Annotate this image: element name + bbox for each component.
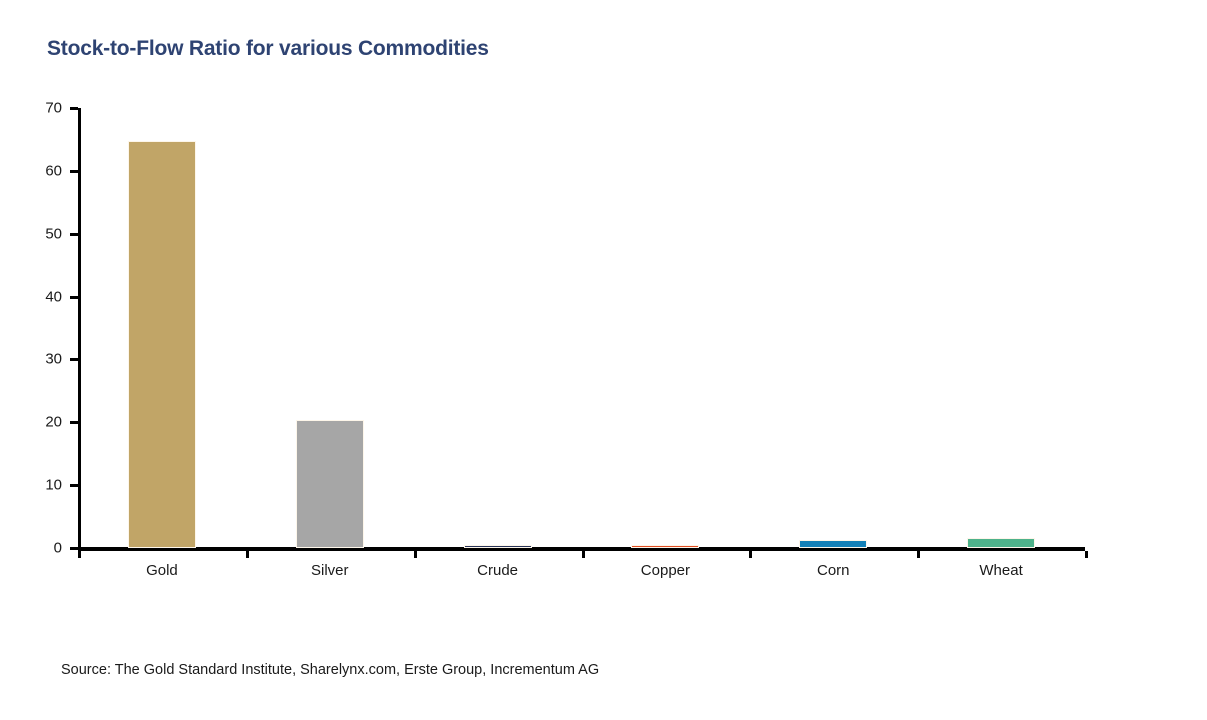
y-tick-mark	[70, 421, 78, 424]
bar-gold	[128, 141, 196, 548]
x-tick-mark	[78, 551, 81, 558]
x-tick-label-copper: Copper	[641, 562, 690, 579]
chart-container: Stock-to-Flow Ratio for various Commodit…	[0, 0, 1207, 720]
y-tick-label: 50	[0, 225, 62, 242]
y-tick-mark	[70, 170, 78, 173]
x-tick-mark	[1085, 551, 1088, 558]
y-tick-mark	[70, 484, 78, 487]
source-note: Source: The Gold Standard Institute, Sha…	[61, 662, 599, 678]
y-tick-label: 60	[0, 162, 62, 179]
y-tick-label: 70	[0, 100, 62, 117]
x-tick-label-gold: Gold	[146, 562, 178, 579]
y-tick-label: 0	[0, 540, 62, 557]
y-tick-label: 20	[0, 414, 62, 431]
x-tick-mark	[582, 551, 585, 558]
x-tick-label-silver: Silver	[311, 562, 349, 579]
x-tick-mark	[917, 551, 920, 558]
bar-crude	[464, 545, 532, 548]
y-tick-mark	[70, 107, 78, 110]
y-tick-mark	[70, 296, 78, 299]
bar-copper	[631, 545, 699, 548]
y-tick-label: 30	[0, 351, 62, 368]
x-tick-label-wheat: Wheat	[979, 562, 1022, 579]
y-tick-label: 40	[0, 288, 62, 305]
y-tick-mark	[70, 358, 78, 361]
x-tick-label-corn: Corn	[817, 562, 850, 579]
y-tick-label: 10	[0, 477, 62, 494]
x-tick-mark	[749, 551, 752, 558]
y-tick-mark	[70, 233, 78, 236]
bar-wheat	[967, 538, 1035, 548]
x-tick-label-crude: Crude	[477, 562, 518, 579]
x-tick-mark	[414, 551, 417, 558]
bar-corn	[799, 540, 867, 548]
y-tick-mark	[70, 547, 78, 550]
bar-silver	[296, 420, 364, 548]
x-tick-mark	[246, 551, 249, 558]
bars-layer	[78, 108, 1085, 548]
chart-title: Stock-to-Flow Ratio for various Commodit…	[47, 37, 489, 61]
